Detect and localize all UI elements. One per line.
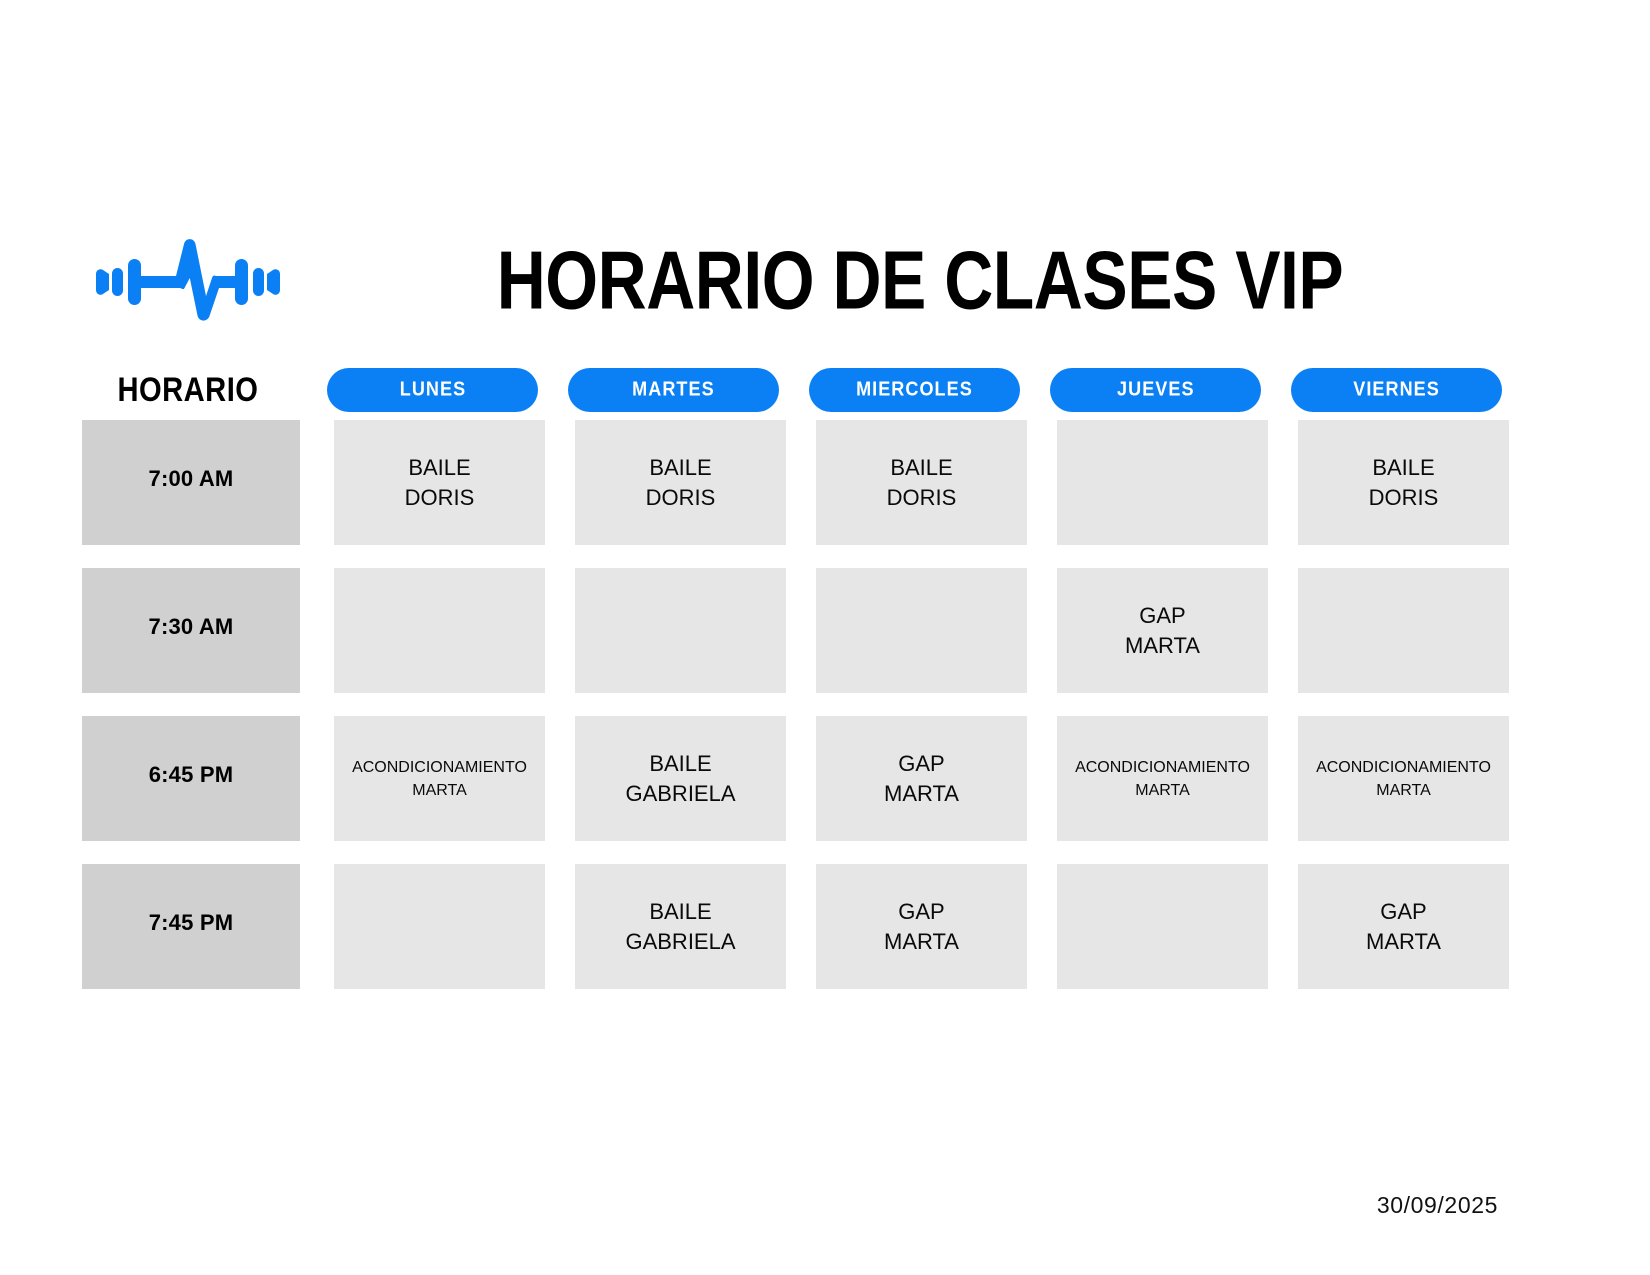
footer-date: 30/09/2025: [1377, 1192, 1498, 1219]
time-cell: 7:45 PM: [82, 864, 300, 989]
slot-cell-viernes[interactable]: GAP MARTA: [1298, 864, 1509, 989]
time-column-header-label: HORARIO: [117, 370, 258, 410]
slot-class-name: BAILE: [1372, 453, 1434, 483]
slot-cell-viernes[interactable]: [1298, 568, 1509, 693]
slot-class-name: GAP: [898, 897, 944, 927]
page-header: HORARIO DE CLASES VIP: [0, 228, 1650, 332]
slot-coach-name: DORIS: [646, 483, 716, 513]
slot-cell-lunes[interactable]: [334, 864, 545, 989]
day-pill-viernes[interactable]: VIERNES: [1291, 368, 1502, 412]
slot-class-name: GAP: [1139, 601, 1185, 631]
slot-coach-name: DORIS: [887, 483, 957, 513]
slot-coach-name: GABRIELA: [625, 779, 735, 809]
slot-cell-martes[interactable]: [575, 568, 786, 693]
slot-coach-name: MARTA: [884, 927, 959, 957]
time-cell-label: 7:30 AM: [149, 614, 234, 640]
day-pill-label-jueves: JUEVES: [1117, 378, 1195, 402]
time-cell: 6:45 PM: [82, 716, 300, 841]
slot-coach-name: MARTA: [1366, 927, 1441, 957]
slot-class-name: GAP: [898, 749, 944, 779]
slot-cell-jueves[interactable]: GAP MARTA: [1057, 568, 1268, 693]
slot-cell-martes[interactable]: BAILE DORIS: [575, 420, 786, 545]
slot-coach-name: MARTA: [412, 779, 467, 802]
slot-cell-lunes[interactable]: BAILE DORIS: [334, 420, 545, 545]
slot-cell-miercoles[interactable]: [816, 568, 1027, 693]
slot-cell-lunes[interactable]: ACONDICIONAMIENTO MARTA: [334, 716, 545, 841]
slot-cell-martes[interactable]: BAILE GABRIELA: [575, 716, 786, 841]
slot-class-name: ACONDICIONAMIENTO: [352, 756, 527, 779]
page-title: HORARIO DE CLASES VIP: [371, 221, 1468, 339]
day-header-viernes[interactable]: VIERNES: [1291, 368, 1502, 412]
day-header-row: HORARIO LUNES MARTES MIERCOLES JUEVES VI…: [82, 368, 1502, 412]
slot-class-name: ACONDICIONAMIENTO: [1316, 756, 1491, 779]
slot-class-name: BAILE: [408, 453, 470, 483]
slot-class-name: BAILE: [649, 749, 711, 779]
time-cell-label: 6:45 PM: [149, 762, 234, 788]
time-cell-label: 7:00 AM: [149, 466, 234, 492]
slot-coach-name: GABRIELA: [625, 927, 735, 957]
slot-cell-miercoles[interactable]: BAILE DORIS: [816, 420, 1027, 545]
day-header-jueves[interactable]: JUEVES: [1050, 368, 1261, 412]
slot-coach-name: MARTA: [884, 779, 959, 809]
slot-coach-name: MARTA: [1135, 779, 1190, 802]
slot-class-name: ACONDICIONAMIENTO: [1075, 756, 1250, 779]
slot-coach-name: MARTA: [1376, 779, 1431, 802]
time-cell: 7:30 AM: [82, 568, 300, 693]
slot-coach-name: DORIS: [405, 483, 475, 513]
day-header-miercoles[interactable]: MIERCOLES: [809, 368, 1020, 412]
slot-cell-lunes[interactable]: [334, 568, 545, 693]
day-header-lunes[interactable]: LUNES: [327, 368, 538, 412]
day-pill-label-martes: MARTES: [632, 378, 714, 402]
day-pill-martes[interactable]: MARTES: [568, 368, 779, 412]
slot-cell-viernes[interactable]: BAILE DORIS: [1298, 420, 1509, 545]
slot-coach-name: DORIS: [1369, 483, 1439, 513]
time-cell-label: 7:45 PM: [149, 910, 234, 936]
day-pill-miercoles[interactable]: MIERCOLES: [809, 368, 1020, 412]
day-pill-lunes[interactable]: LUNES: [327, 368, 538, 412]
slot-class-name: BAILE: [890, 453, 952, 483]
schedule-grid: 7:00 AM BAILE DORIS BAILE DORIS BAILE DO…: [82, 420, 1502, 989]
slot-cell-jueves[interactable]: ACONDICIONAMIENTO MARTA: [1057, 716, 1268, 841]
slot-cell-miercoles[interactable]: GAP MARTA: [816, 716, 1027, 841]
slot-class-name: GAP: [1380, 897, 1426, 927]
slot-cell-miercoles[interactable]: GAP MARTA: [816, 864, 1027, 989]
slot-cell-martes[interactable]: BAILE GABRIELA: [575, 864, 786, 989]
day-pill-label-lunes: LUNES: [399, 378, 465, 402]
day-header-martes[interactable]: MARTES: [568, 368, 779, 412]
dumbbell-heartbeat-icon: [88, 234, 288, 330]
day-pill-jueves[interactable]: JUEVES: [1050, 368, 1261, 412]
table-row: 7:00 AM BAILE DORIS BAILE DORIS BAILE DO…: [82, 420, 1502, 545]
time-cell: 7:00 AM: [82, 420, 300, 545]
day-pill-label-viernes: VIERNES: [1353, 378, 1440, 402]
day-pill-label-miercoles: MIERCOLES: [856, 378, 973, 402]
slot-cell-jueves[interactable]: [1057, 420, 1268, 545]
table-row: 7:45 PM BAILE GABRIELA GAP MARTA GAP MAR…: [82, 864, 1502, 989]
slot-class-name: BAILE: [649, 897, 711, 927]
slot-coach-name: MARTA: [1125, 631, 1200, 661]
time-column-header: HORARIO: [82, 368, 293, 412]
slot-cell-jueves[interactable]: [1057, 864, 1268, 989]
slot-class-name: BAILE: [649, 453, 711, 483]
table-row: 6:45 PM ACONDICIONAMIENTO MARTA BAILE GA…: [82, 716, 1502, 841]
table-row: 7:30 AM GAP MARTA: [82, 568, 1502, 693]
slot-cell-viernes[interactable]: ACONDICIONAMIENTO MARTA: [1298, 716, 1509, 841]
